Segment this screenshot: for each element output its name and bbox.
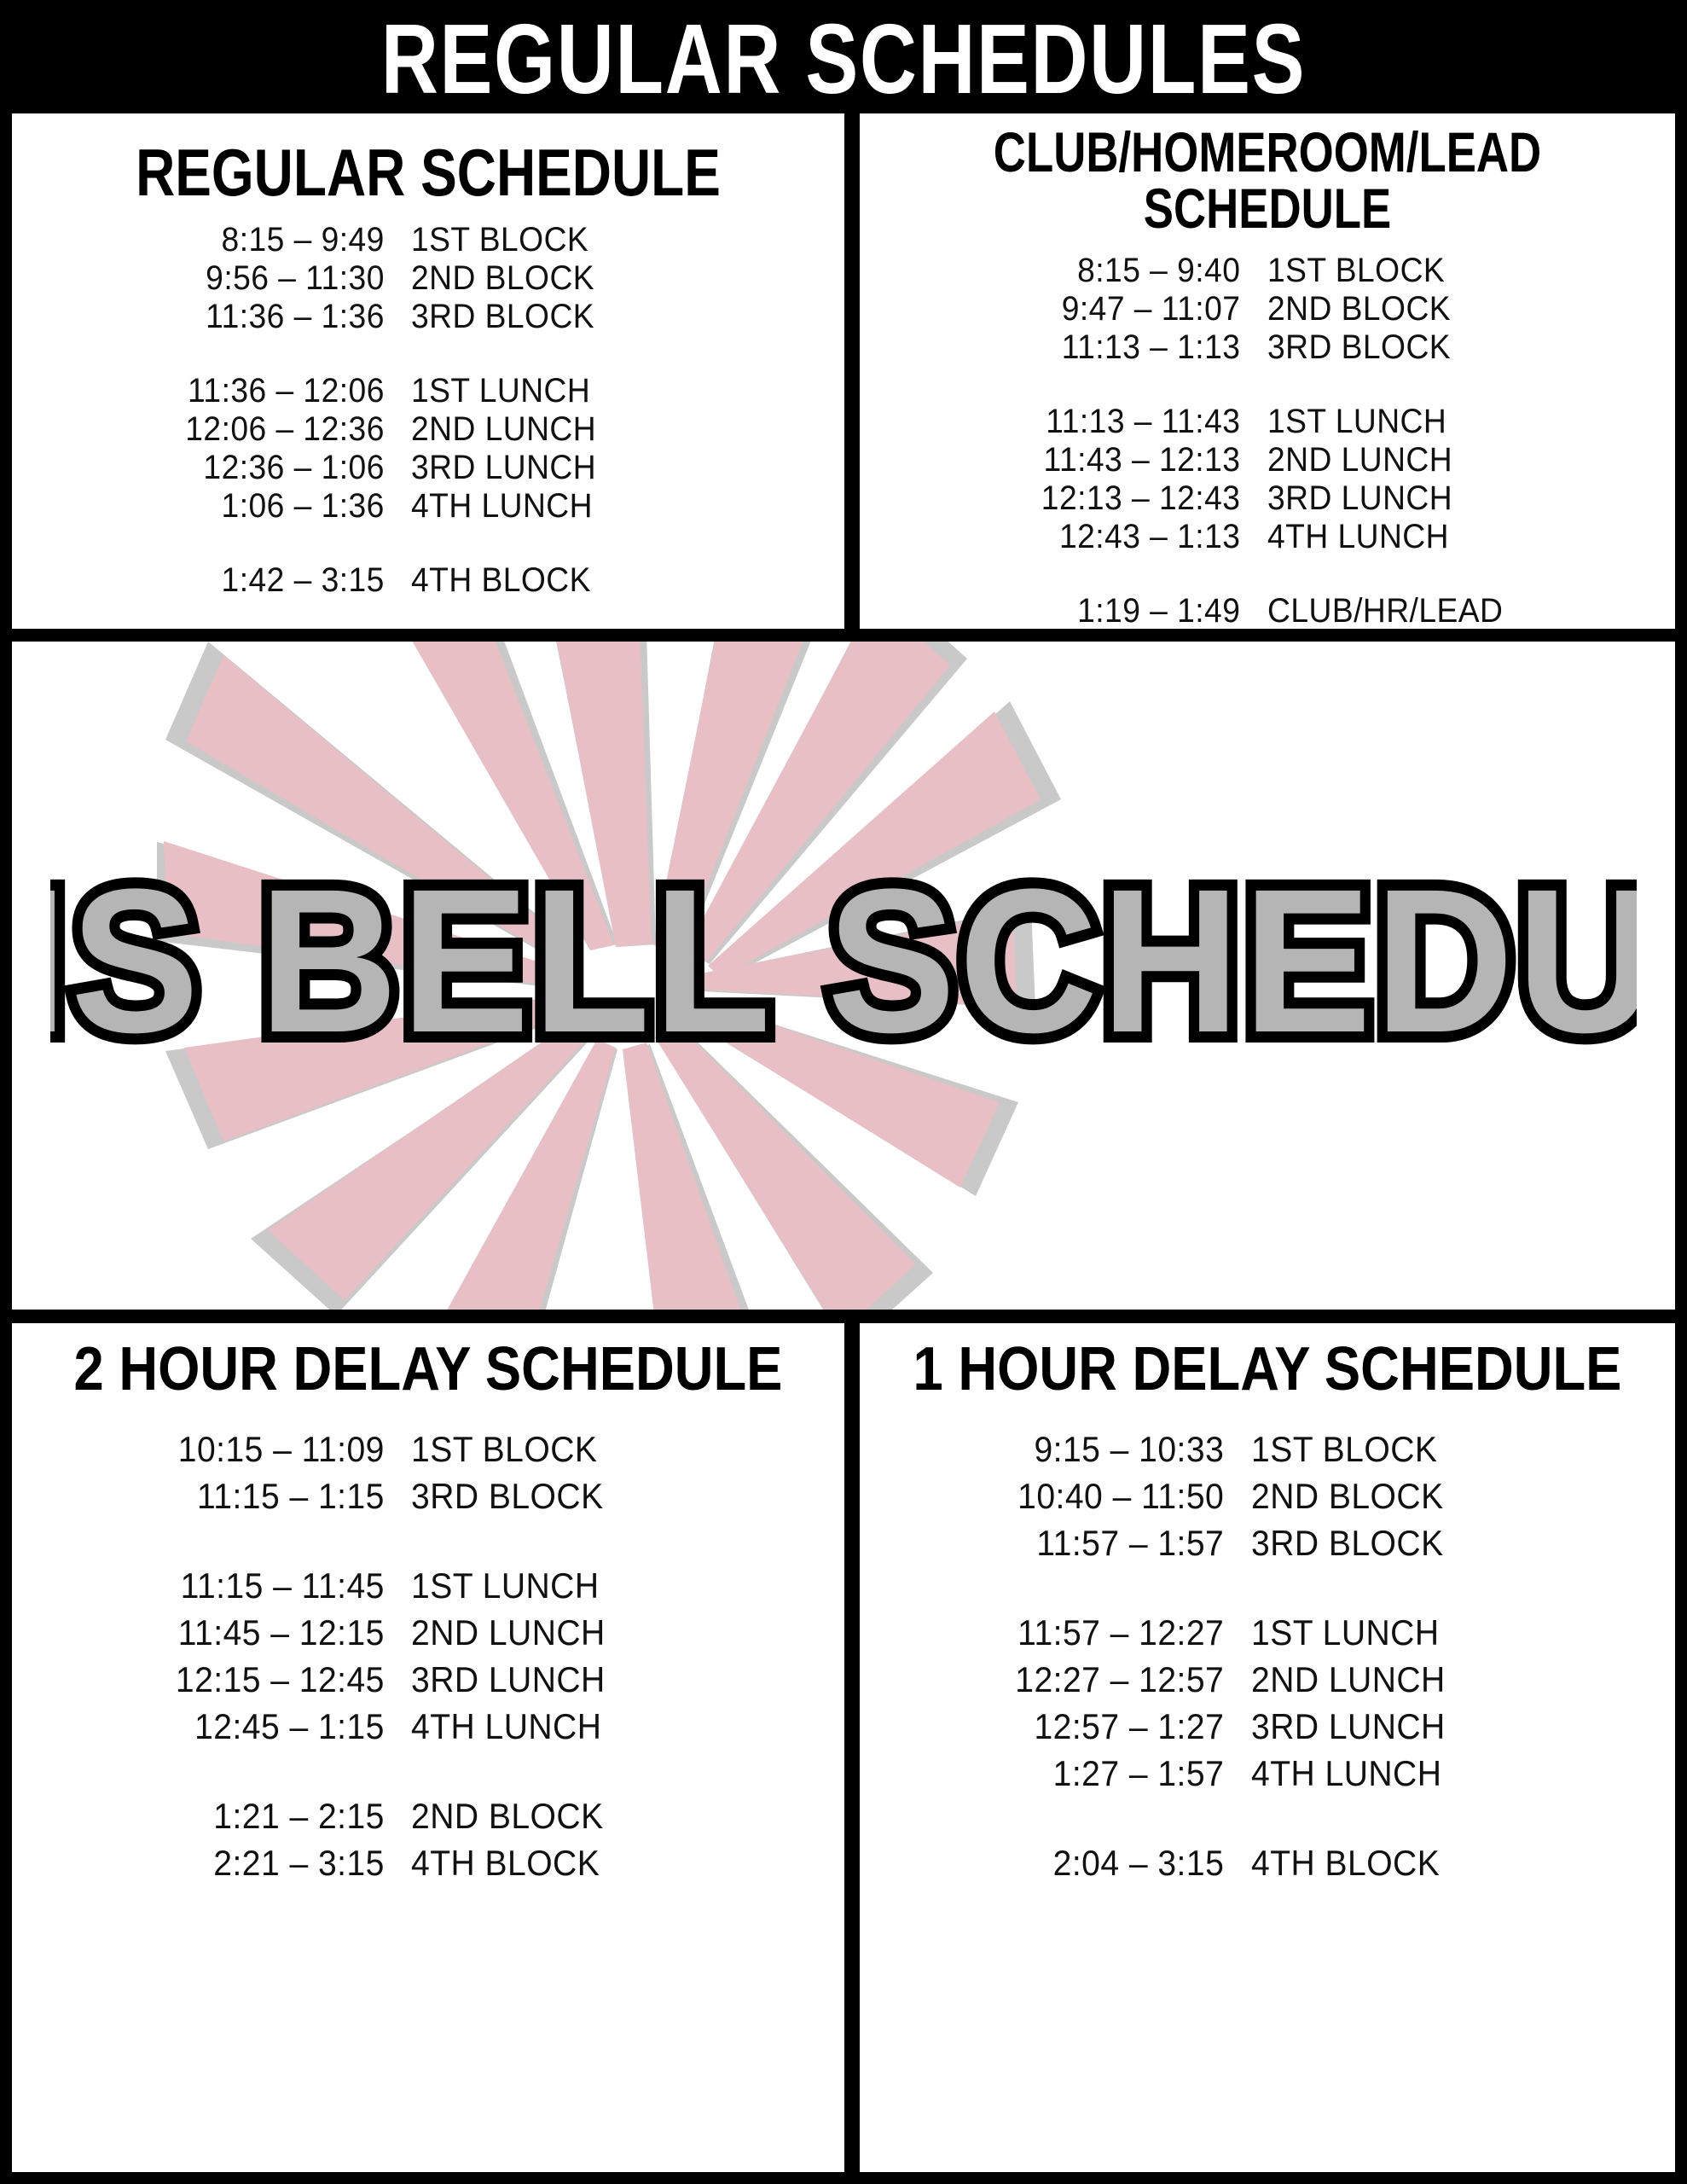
schedule-row: 11:36 – 1:363RD BLOCK (12, 298, 844, 336)
schedule-row-time: 11:13 – 11:43 (888, 403, 1267, 441)
banner-title-graphic: CCHS BELL SCHEDULES (50, 848, 1637, 1104)
schedule-row-label: 2ND BLOCK (1267, 290, 1647, 328)
panel-club-homeroom-lead-schedule: CLUB/HOMEROOM/LEAD SCHEDULE 8:15 – 9:401… (860, 113, 1675, 629)
divider-top-vertical (844, 113, 860, 629)
schedule-row: 11:57 – 1:573RD BLOCK (860, 1523, 1675, 1570)
panel-2-hour-delay-schedule: 2 HOUR DELAY SCHEDULE 10:15 – 11:091ST B… (12, 1323, 844, 2172)
schedule-row-label: 4TH LUNCH (1251, 1753, 1645, 1794)
bell-schedule-poster: REGULAR SCHEDULES REGULAR SCHEDULE 8:15 … (0, 0, 1687, 2184)
schedule-row-time: 11:36 – 1:36 (40, 298, 412, 336)
schedule-row-time: 10:15 – 11:09 (40, 1429, 412, 1470)
schedule-row-spacer (860, 1570, 1675, 1612)
schedule-row: 10:40 – 11:502ND BLOCK (860, 1476, 1675, 1523)
schedule-row-label: 4TH BLOCK (411, 561, 814, 600)
schedule-row: 2:04 – 3:154TH BLOCK (860, 1843, 1675, 1890)
schedule-row-time: 9:47 – 11:07 (888, 290, 1267, 328)
schedule-row-time: 9:56 – 11:30 (40, 259, 412, 298)
schedule-row: 9:56 – 11:302ND BLOCK (12, 259, 844, 298)
schedule-row-time: 12:57 – 1:27 (887, 1706, 1251, 1747)
schedule-row-label: 4TH LUNCH (411, 1706, 814, 1747)
schedule-row-label: 3RD BLOCK (411, 1476, 814, 1517)
schedule-row: 11:57 – 12:271ST LUNCH (860, 1612, 1675, 1659)
schedule-row-label: 2ND BLOCK (411, 1796, 814, 1837)
schedule-row: 2:21 – 3:154TH BLOCK (12, 1843, 844, 1890)
schedule-row-time: 12:45 – 1:15 (40, 1706, 412, 1747)
schedule-row-time: 12:06 – 12:36 (40, 410, 412, 449)
schedule-row: 11:45 – 12:152ND LUNCH (12, 1612, 844, 1659)
schedule-row: 8:15 – 9:491ST BLOCK (12, 221, 844, 259)
schedule-row: 1:06 – 1:364TH LUNCH (12, 487, 844, 526)
schedule-row-spacer (12, 1753, 844, 1796)
schedule-row-label: 4TH LUNCH (1267, 518, 1647, 556)
schedule-row-time: 11:15 – 1:15 (40, 1476, 412, 1517)
schedule-row-label: 1ST BLOCK (1251, 1429, 1645, 1470)
schedule-row: 12:13 – 12:433RD LUNCH (860, 479, 1675, 518)
schedule-rows-1-hour-delay: 9:15 – 10:331ST BLOCK10:40 – 11:502ND BL… (860, 1429, 1675, 1890)
schedule-row: 9:47 – 11:072ND BLOCK (860, 290, 1675, 328)
schedule-row-label: 3RD LUNCH (411, 1659, 814, 1700)
panel-title-regular-schedule: REGULAR SCHEDULE (87, 139, 769, 206)
schedule-row-spacer (860, 556, 1675, 592)
schedule-row-time: 1:42 – 3:15 (40, 561, 412, 600)
schedule-row: 12:45 – 1:154TH LUNCH (12, 1706, 844, 1753)
schedule-row-label: 2ND LUNCH (411, 1612, 814, 1653)
schedule-row-spacer (12, 526, 844, 561)
schedule-row-label: 1ST LUNCH (1251, 1612, 1645, 1653)
schedule-row: 10:15 – 11:091ST BLOCK (12, 1429, 844, 1476)
schedule-row-label: 4TH BLOCK (1251, 1843, 1645, 1884)
schedule-row: 1:27 – 1:574TH LUNCH (860, 1753, 1675, 1800)
schedule-row-label: 3RD LUNCH (1267, 479, 1647, 518)
schedule-row-time: 2:21 – 3:15 (40, 1843, 412, 1884)
schedule-row-label: 3RD BLOCK (411, 298, 814, 336)
schedule-row-time: 12:27 – 12:57 (887, 1659, 1251, 1700)
banner-title: CCHS BELL SCHEDULES (50, 848, 1637, 1076)
schedule-row-time: 11:57 – 1:57 (887, 1523, 1251, 1564)
schedule-row-label: 3RD BLOCK (1251, 1523, 1645, 1564)
schedule-row: 12:36 – 1:063RD LUNCH (12, 449, 844, 487)
panel-1-hour-delay-schedule: 1 HOUR DELAY SCHEDULE 9:15 – 10:331ST BL… (860, 1323, 1675, 2172)
schedule-row: 9:15 – 10:331ST BLOCK (860, 1429, 1675, 1476)
banner-text-wrapper: CCHS BELL SCHEDULES (12, 642, 1675, 1310)
schedule-row-label: 1ST BLOCK (1267, 252, 1647, 290)
schedule-row: 1:21 – 2:152ND BLOCK (12, 1796, 844, 1843)
panel-title-club-line1: CLUB/HOMEROOM/LEAD (994, 120, 1541, 183)
schedule-row: 11:13 – 1:133RD BLOCK (860, 328, 1675, 367)
schedule-row-spacer (860, 1800, 1675, 1843)
schedule-row-time: 12:36 – 1:06 (40, 449, 412, 487)
schedule-row: 11:15 – 1:153RD BLOCK (12, 1476, 844, 1523)
schedule-row-label: 1ST LUNCH (1267, 403, 1647, 441)
schedule-row-spacer (12, 1523, 844, 1565)
schedule-row-time: 11:45 – 12:15 (40, 1612, 412, 1653)
schedule-row-time: 10:40 – 11:50 (887, 1476, 1251, 1517)
schedule-row-time: 1:06 – 1:36 (40, 487, 412, 526)
panel-title-1-hour-delay: 1 HOUR DELAY SCHEDULE (908, 1339, 1626, 1400)
schedule-row-label: 1ST LUNCH (411, 372, 814, 410)
schedule-row-time: 11:15 – 11:45 (40, 1565, 412, 1606)
schedule-row-label: CLUB/HR/LEAD (1267, 592, 1647, 629)
schedule-row-spacer (860, 367, 1675, 403)
schedule-row-label: 2ND BLOCK (411, 259, 814, 298)
schedule-row: 12:15 – 12:453RD LUNCH (12, 1659, 844, 1706)
schedule-row-label: 3RD LUNCH (1251, 1706, 1645, 1747)
schedule-rows-regular: 8:15 – 9:491ST BLOCK9:56 – 11:302ND BLOC… (12, 221, 844, 600)
schedule-row: 1:19 – 1:49CLUB/HR/LEAD (860, 592, 1675, 629)
panel-title-2-hour-delay: 2 HOUR DELAY SCHEDULE (62, 1339, 795, 1400)
schedule-rows-club: 8:15 – 9:401ST BLOCK9:47 – 11:072ND BLOC… (860, 252, 1675, 629)
schedule-row-time: 12:43 – 1:13 (888, 518, 1267, 556)
schedule-row: 11:43 – 12:132ND LUNCH (860, 441, 1675, 479)
schedule-row-time: 8:15 – 9:40 (888, 252, 1267, 290)
schedule-row: 12:43 – 1:134TH LUNCH (860, 518, 1675, 556)
schedule-rows-2-hour-delay: 10:15 – 11:091ST BLOCK11:15 – 1:153RD BL… (12, 1429, 844, 1890)
schedule-row: 8:15 – 9:401ST BLOCK (860, 252, 1675, 290)
schedule-row-label: 4TH BLOCK (411, 1843, 814, 1884)
schedule-row-time: 9:15 – 10:33 (887, 1429, 1251, 1470)
panel-regular-schedule: REGULAR SCHEDULE 8:15 – 9:491ST BLOCK9:5… (12, 113, 844, 629)
schedule-row-label: 1ST BLOCK (411, 221, 814, 259)
schedule-row-time: 1:27 – 1:57 (887, 1753, 1251, 1794)
schedule-row-label: 4TH LUNCH (411, 487, 814, 526)
schedule-row-spacer (12, 336, 844, 372)
schedule-row-time: 8:15 – 9:49 (40, 221, 412, 259)
schedule-row-time: 2:04 – 3:15 (887, 1843, 1251, 1884)
schedule-row-label: 2ND LUNCH (1267, 441, 1647, 479)
schedule-row-time: 1:19 – 1:49 (888, 592, 1267, 629)
schedule-row-label: 2ND LUNCH (411, 410, 814, 449)
schedule-row-label: 1ST BLOCK (411, 1429, 814, 1470)
panel-title-club-line2: SCHEDULE (942, 180, 1594, 236)
page-title: REGULAR SCHEDULES (169, 7, 1518, 111)
schedule-row-time: 11:57 – 12:27 (887, 1612, 1251, 1653)
schedule-row: 11:13 – 11:431ST LUNCH (860, 403, 1675, 441)
schedule-row: 12:27 – 12:572ND LUNCH (860, 1659, 1675, 1706)
banner-cchs-bell-schedules: CCHS BELL SCHEDULES (12, 642, 1675, 1310)
schedule-row-label: 1ST LUNCH (411, 1565, 814, 1606)
schedule-row-time: 11:43 – 12:13 (888, 441, 1267, 479)
schedule-row-label: 3RD BLOCK (1267, 328, 1647, 367)
schedule-row-label: 2ND LUNCH (1251, 1659, 1645, 1700)
schedule-row-time: 1:21 – 2:15 (40, 1796, 412, 1837)
schedule-row-label: 2ND BLOCK (1251, 1476, 1645, 1517)
schedule-row: 12:57 – 1:273RD LUNCH (860, 1706, 1675, 1753)
schedule-row-time: 12:13 – 12:43 (888, 479, 1267, 518)
divider-bottom-vertical (844, 1323, 860, 2172)
schedule-row: 11:15 – 11:451ST LUNCH (12, 1565, 844, 1612)
schedule-row: 1:42 – 3:154TH BLOCK (12, 561, 844, 600)
schedule-row: 12:06 – 12:362ND LUNCH (12, 410, 844, 449)
panel-title-club-schedule: CLUB/HOMEROOM/LEAD SCHEDULE (942, 124, 1594, 236)
schedule-row-time: 11:13 – 1:13 (888, 328, 1267, 367)
schedule-row-time: 12:15 – 12:45 (40, 1659, 412, 1700)
schedule-row-label: 3RD LUNCH (411, 449, 814, 487)
schedule-row-time: 11:36 – 12:06 (40, 372, 412, 410)
schedule-row: 11:36 – 12:061ST LUNCH (12, 372, 844, 410)
